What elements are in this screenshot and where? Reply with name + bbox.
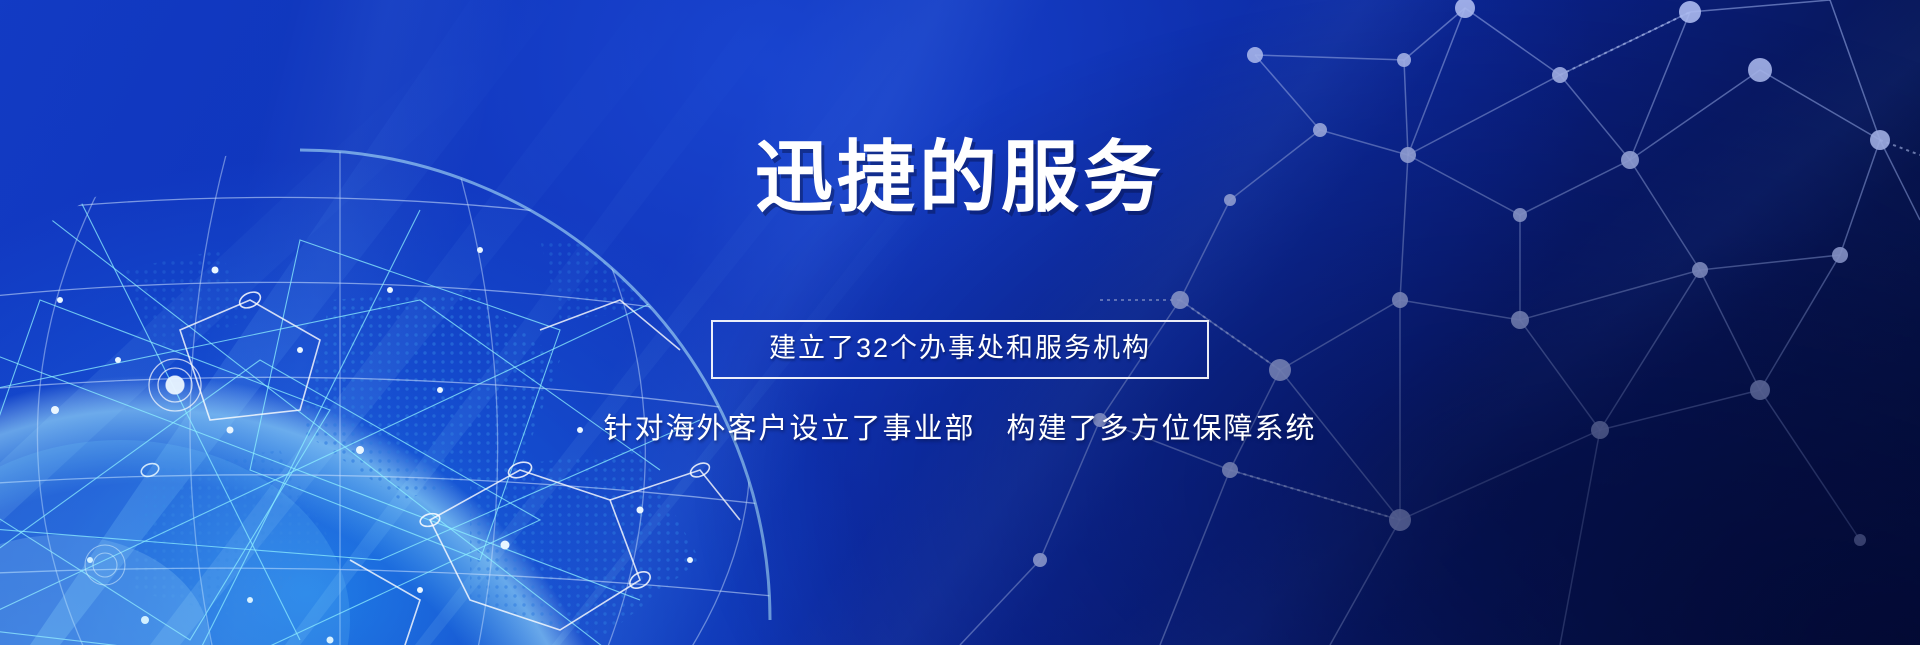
service-banner: 迅捷的服务 建立了32个办事处和服务机构 针对海外客户设立了事业部 构建了多方位…	[0, 0, 1920, 645]
page-title: 迅捷的服务	[755, 138, 1165, 216]
banner-tagline: 针对海外客户设立了事业部 构建了多方位保障系统	[603, 415, 1316, 444]
banner-content: 迅捷的服务 建立了32个办事处和服务机构 针对海外客户设立了事业部 构建了多方位…	[0, 0, 1920, 645]
highlight-box-text: 建立了32个办事处和服务机构	[769, 335, 1151, 362]
highlight-box: 建立了32个办事处和服务机构	[711, 320, 1209, 379]
